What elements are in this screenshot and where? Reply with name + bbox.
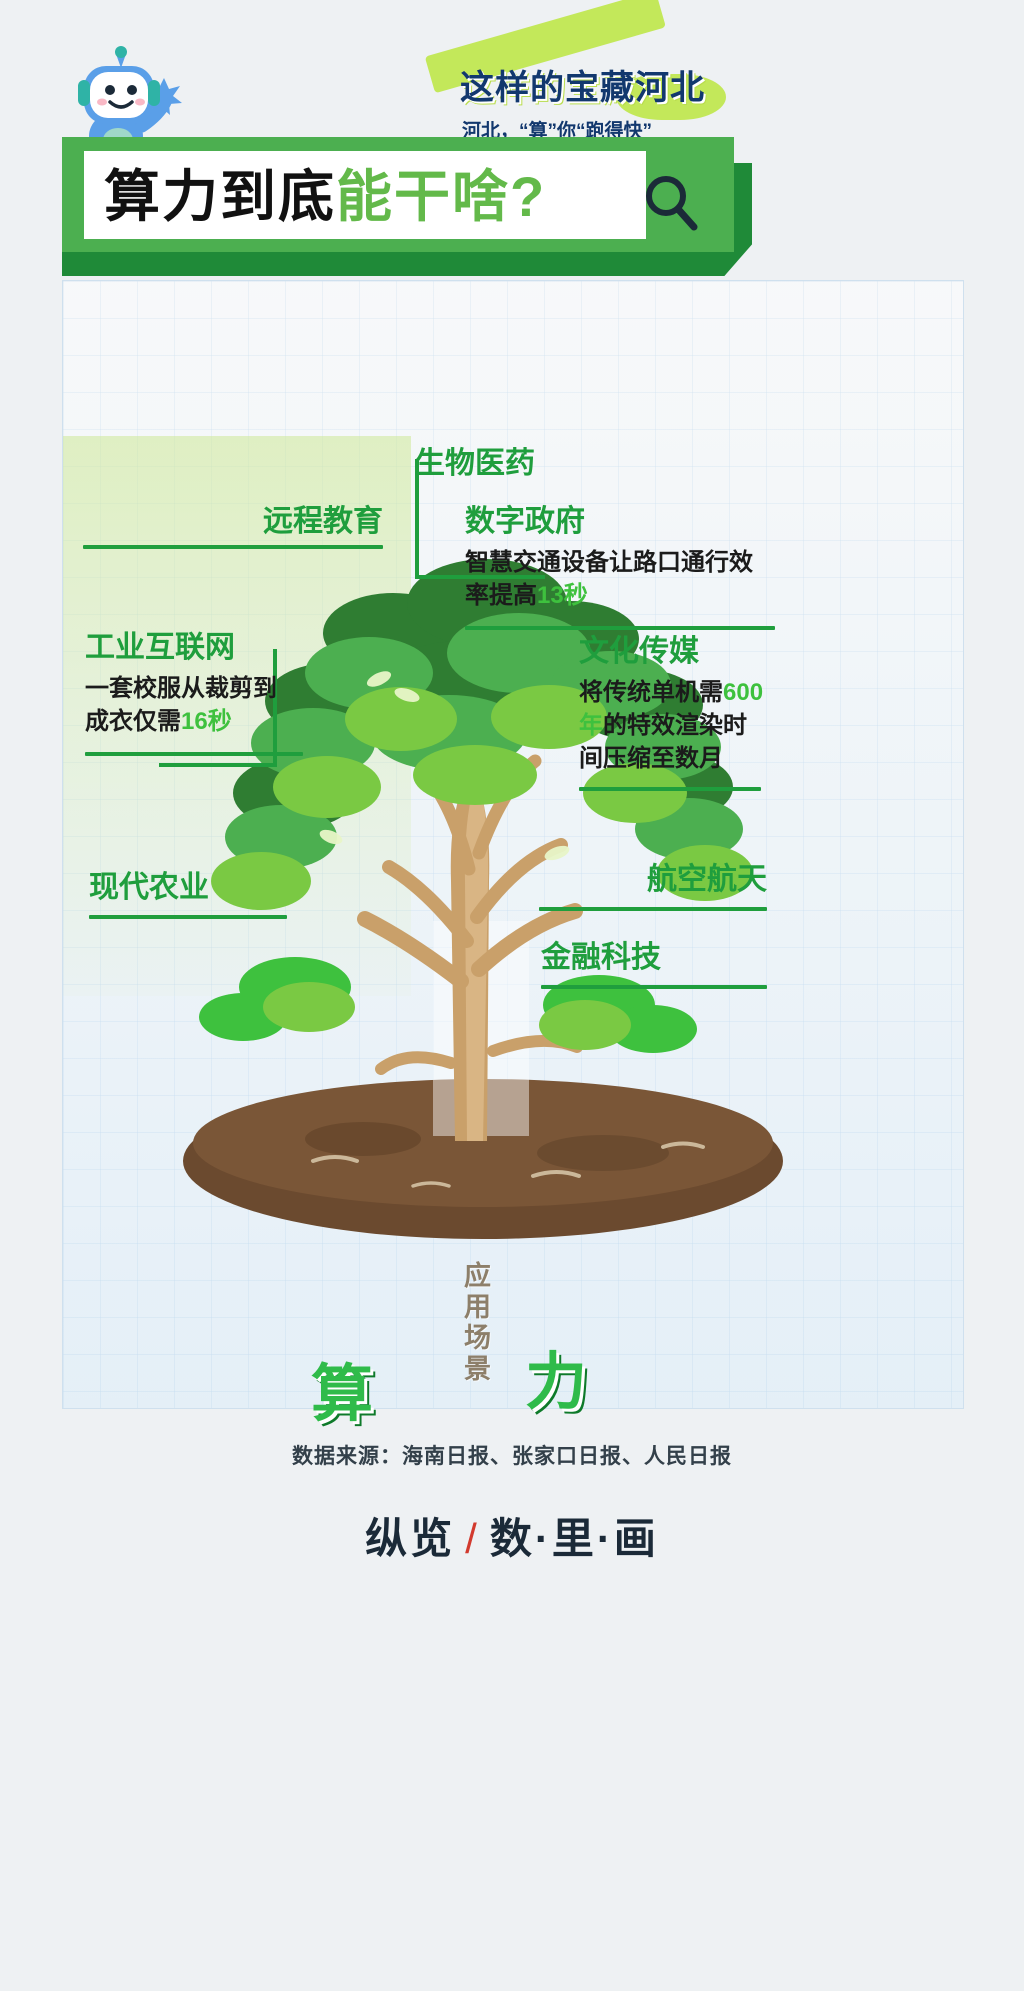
logo-separator: / xyxy=(455,1515,490,1562)
label-digital-government-body: 智慧交通设备让路口通行效率提高13秒 xyxy=(465,546,765,612)
label-industrial-internet-head: 工业互联网 xyxy=(85,629,295,667)
dg-body-pre: 智慧交通设备让路口通行效率提高 xyxy=(465,549,753,609)
label-aerospace: 航空航天 xyxy=(539,861,767,911)
label-digital-government-rule xyxy=(465,626,775,630)
ground-word-right: 力 xyxy=(525,1331,587,1421)
label-culture-media-head: 文化传媒 xyxy=(579,633,769,671)
cm-body-post: 的特效渲染时间压缩至数月 xyxy=(579,712,747,772)
label-industrial-internet: 工业互联网 一套校服从裁剪到成衣仅需16秒 xyxy=(85,629,295,756)
data-source-note: 数据来源：海南日报、张家口日报、人民日报 xyxy=(0,1440,1024,1470)
label-digital-government-head: 数字政府 xyxy=(465,503,765,541)
label-modern-agriculture-rule xyxy=(89,915,287,919)
ground-word-left: 算 xyxy=(311,1343,373,1433)
label-biotech: 生物医药 xyxy=(415,445,615,483)
label-fintech-rule xyxy=(541,985,767,989)
publisher-logo: 纵览/数·里·画 xyxy=(0,1505,1024,1566)
page-title-part2: 能干啥? xyxy=(336,165,546,228)
label-biotech-head: 生物医药 xyxy=(415,445,615,483)
label-aerospace-rule xyxy=(539,907,767,911)
infographic-page: 这样的宝藏河北 河北，“算”你“跑得快” 算力到底能干啥? xyxy=(0,0,1024,1991)
brand-title: 这样的宝藏河北 xyxy=(460,60,740,109)
application-scenario-label: 应用场景 xyxy=(461,1261,495,1385)
label-culture-media: 文化传媒 将传统单机需600年的特效渲染时间压缩至数月 xyxy=(579,633,769,791)
search-icon xyxy=(640,172,700,234)
label-industrial-internet-body: 一套校服从裁剪到成衣仅需16秒 xyxy=(85,672,295,738)
label-modern-agriculture-head: 现代农业 xyxy=(89,869,289,907)
ii-body-highlight: 16秒 xyxy=(181,708,232,735)
label-distance-education-rule xyxy=(83,545,383,549)
label-industrial-internet-rule xyxy=(85,752,303,756)
dg-body-highlight: 13秒 xyxy=(537,582,588,609)
connector-education-horizontal xyxy=(159,763,277,767)
brand-header: 这样的宝藏河北 河北，“算”你“跑得快” xyxy=(430,28,730,120)
label-aerospace-head: 航空航天 xyxy=(539,861,767,899)
label-fintech-head: 金融科技 xyxy=(541,939,767,977)
label-digital-government: 数字政府 智慧交通设备让路口通行效率提高13秒 xyxy=(465,503,765,630)
label-modern-agriculture: 现代农业 xyxy=(89,869,289,919)
label-culture-media-body: 将传统单机需600年的特效渲染时间压缩至数月 xyxy=(579,676,769,775)
label-distance-education: 远程教育 xyxy=(83,503,383,549)
label-fintech: 金融科技 xyxy=(541,939,767,989)
label-culture-media-rule xyxy=(579,787,761,791)
cm-body-pre: 将传统单机需 xyxy=(579,679,723,706)
label-distance-education-head: 远程教育 xyxy=(83,503,383,541)
logo-right-text: 数·里·画 xyxy=(490,1515,659,1562)
main-panel: 应用场景 算 力 生物医药 远程教育 数字政府 智慧交通设备让路口通行效率提高1… xyxy=(62,280,964,1409)
page-title-part1: 算力到底 xyxy=(104,165,336,228)
page-title: 算力到底能干啥? xyxy=(104,166,624,228)
logo-left-text: 纵览 xyxy=(365,1515,455,1562)
